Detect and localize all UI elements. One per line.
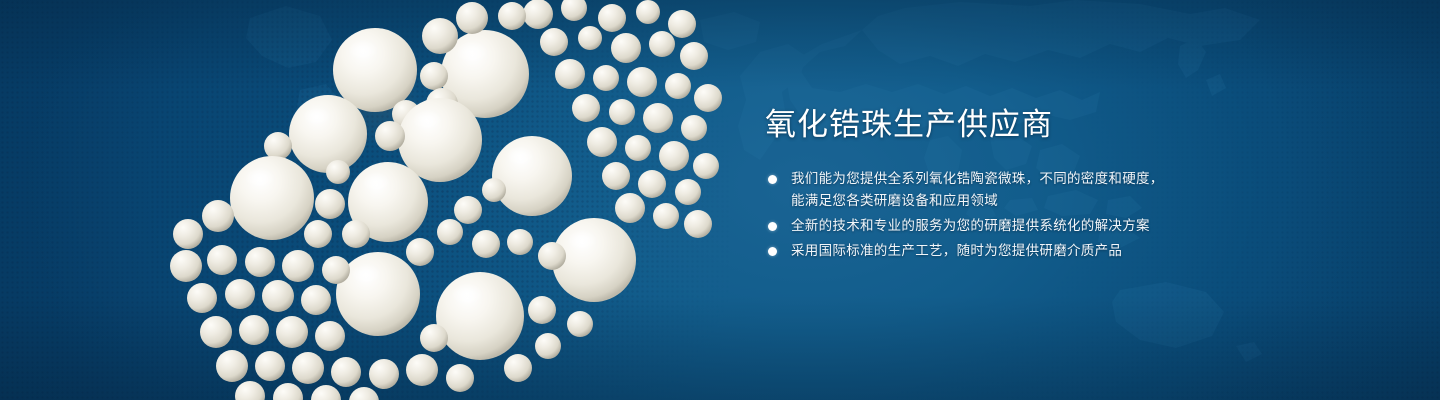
feature-item-2: 全新的技术和专业的服务为您的研磨提供系统化的解决方案 <box>765 215 1245 237</box>
bullet-dot-icon <box>768 247 777 256</box>
feature-item-1: 我们能为您提供全系列氧化锆陶瓷微珠，不同的密度和硬度， 能满足您各类研磨设备和应… <box>765 168 1245 212</box>
bullet-dot-icon <box>768 222 777 231</box>
bullet-dot-icon <box>768 175 777 184</box>
feature-item-1-line2: 能满足您各类研磨设备和应用领域 <box>791 190 1245 212</box>
feature-item-2-line1: 全新的技术和专业的服务为您的研磨提供系统化的解决方案 <box>791 218 1150 234</box>
hero-banner: 氧化锆珠生产供应商 我们能为您提供全系列氧化锆陶瓷微珠，不同的密度和硬度， 能满… <box>0 0 1440 400</box>
banner-headline: 氧化锆珠生产供应商 <box>765 106 1245 146</box>
zirconia-beads-image <box>150 0 730 400</box>
feature-item-3-line1: 采用国际标准的生产工艺，随时为您提供研磨介质产品 <box>791 243 1122 259</box>
feature-item-3: 采用国际标准的生产工艺，随时为您提供研磨介质产品 <box>765 240 1245 262</box>
banner-copy: 氧化锆珠生产供应商 我们能为您提供全系列氧化锆陶瓷微珠，不同的密度和硬度， 能满… <box>765 106 1245 265</box>
banner-feature-list: 我们能为您提供全系列氧化锆陶瓷微珠，不同的密度和硬度， 能满足您各类研磨设备和应… <box>765 168 1245 262</box>
feature-item-1-line1: 我们能为您提供全系列氧化锆陶瓷微珠，不同的密度和硬度， <box>791 171 1164 187</box>
